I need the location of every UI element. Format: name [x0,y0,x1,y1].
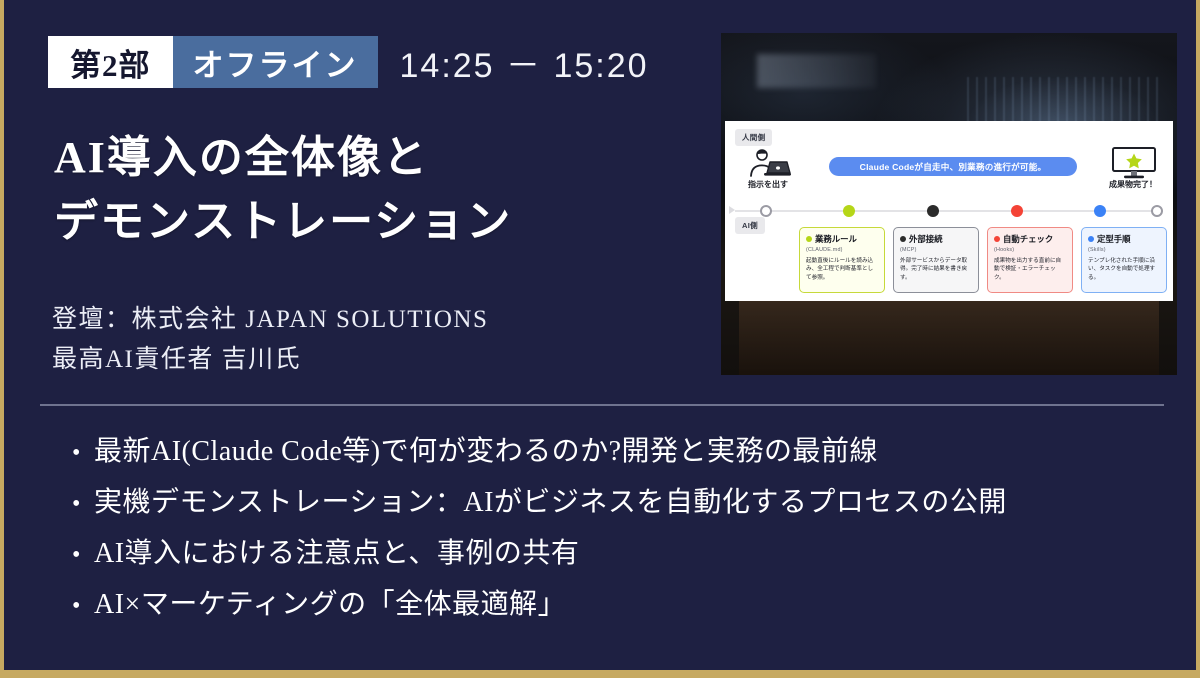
mode-badge: オフライン [173,36,378,88]
feature-card-title: 外部接続 [909,233,943,245]
part-badge: 第2部 [48,36,173,88]
status-banner: Claude Codeが自走中、別業務の進行が可能。 [829,157,1077,176]
feature-card-body: 起動直後にルールを読み込み、全工程で判断基準として参照。 [806,257,878,282]
bullet-dot-icon: • [72,594,94,618]
list-item-label: 最新AI(Claude Code等)で何が変わるのか?開発と実務の最前線 [94,432,878,472]
agenda-list: • 最新AI(Claude Code等)で何が変わるのか?開発と実務の最前線 •… [72,432,1007,636]
feature-card-head: 業務ルール [806,233,878,245]
speaker-name: 最高AI責任者 吉川氏 [52,340,488,380]
status-dot-icon [806,236,812,242]
feature-card-title: 定型手順 [1097,233,1131,245]
feature-card: 外部接続 (MCP) 外部サービスからデータ取得。完了時に結果を書き戻す。 [893,227,979,293]
feature-card-body: 外部サービスからデータ取得。完了時に結果を書き戻す。 [900,257,972,282]
list-item-label: AI導入における注意点と、事例の共有 [94,534,579,574]
feature-card-subtitle: (CLAUDE.md) [806,247,878,253]
feature-card: 定型手順 (Skills) テンプレ化された手順に沿い、タスクを自動で処理する。 [1081,227,1167,293]
human-side-tag: 人間側 [735,129,772,146]
status-dot-icon [900,236,906,242]
timeline [729,203,1169,219]
page-title: AI導入の全体像と デモンストレーション [54,126,674,254]
monitor-star-icon [1111,147,1157,179]
speaker-info: 登壇：株式会社 JAPAN SOLUTIONS 最高AI責任者 吉川氏 [52,300,488,380]
status-dot-icon [994,236,1000,242]
feature-card-title: 自動チェック [1003,233,1053,245]
list-item-label: AI×マーケティングの「全体最適解」 [94,585,566,625]
feature-card-head: 自動チェック [994,233,1066,245]
person-laptop-icon [743,149,791,177]
bullet-dot-icon: • [72,492,94,516]
feature-card-subtitle: (Skills) [1088,247,1160,253]
photo-table-surface [739,300,1159,375]
bullet-dot-icon: • [72,441,94,465]
list-item-label: 実機デモンストレーション：AIがビジネスを自動化するプロセスの公開 [94,483,1007,523]
feature-card-subtitle: (MCP) [900,247,972,253]
section-divider [40,404,1164,406]
title-line-2: デモンストレーション [54,190,674,254]
session-time: 14:25 － 15:20 [378,36,649,88]
list-item: • AI導入における注意点と、事例の共有 [72,534,1007,574]
timeline-node [1094,205,1106,217]
timeline-node [843,205,855,217]
status-dot-icon [1088,236,1094,242]
list-item: • AI×マーケティングの「全体最適解」 [72,585,1007,625]
workflow-diagram: 人間側 AI側 指示を出す 成果物完了！ Claude Codeが自走中、別業務… [725,121,1173,301]
feature-card-body: 成果物を出力する直前に自動で検証・エラーチェック。 [994,257,1066,282]
timeline-node [760,205,772,217]
feature-card-title: 業務ルール [815,233,857,245]
bullet-dot-icon: • [72,543,94,567]
timeline-node [1011,205,1023,217]
speaker-company: 登壇：株式会社 JAPAN SOLUTIONS [52,300,488,340]
feature-card-subtitle: (Hooks) [994,247,1066,253]
person-caption: 指示を出す [737,179,799,190]
monitor-caption: 成果物完了！ [1095,179,1171,190]
feature-card: 自動チェック (Hooks) 成果物を出力する直前に自動で検証・エラーチェック。 [987,227,1073,293]
timeline-node [927,205,939,217]
title-line-1: AI導入の全体像と [54,126,674,190]
slide-root: 第2部 オフライン 14:25 － 15:20 AI導入の全体像と デモンストレ… [4,0,1196,670]
timeline-node [1151,205,1163,217]
feature-card-body: テンプレ化された手順に沿い、タスクを自動で処理する。 [1088,257,1160,282]
list-item: • 実機デモンストレーション：AIがビジネスを自動化するプロセスの公開 [72,483,1007,523]
feature-card: 業務ルール (CLAUDE.md) 起動直後にルールを読み込み、全工程で判断基準… [799,227,885,293]
feature-card-head: 定型手順 [1088,233,1160,245]
list-item: • 最新AI(Claude Code等)で何が変わるのか?開発と実務の最前線 [72,432,1007,472]
header-row: 第2部 オフライン 14:25 － 15:20 [48,36,649,88]
feature-cards: 業務ルール (CLAUDE.md) 起動直後にルールを読み込み、全工程で判断基準… [799,227,1167,293]
ai-side-tag: AI側 [735,217,765,234]
feature-card-head: 外部接続 [900,233,972,245]
